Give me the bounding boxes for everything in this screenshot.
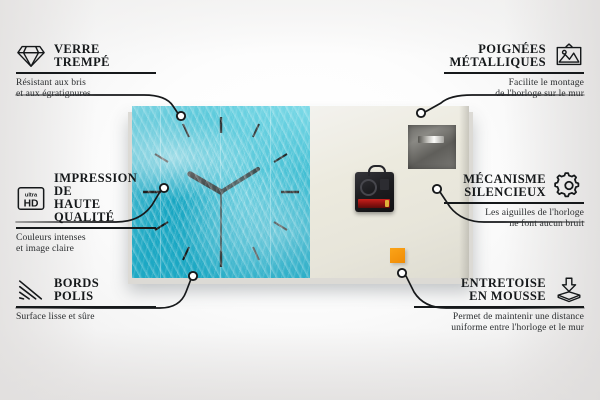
svg-text:HD: HD	[24, 198, 39, 209]
callout-title-line2: HAUTE QUALITÉ	[54, 198, 156, 224]
callout-mecanisme-silencieux: MÉCANISME SILENCIEUX Les aiguilles de l'…	[444, 172, 584, 230]
foam-spacer-icon	[554, 276, 584, 303]
metal-handle-plate	[408, 125, 456, 169]
callout-sub-line1: Les aiguilles de l'horloge	[444, 207, 584, 219]
callout-rule	[16, 72, 156, 74]
callout-title-line1: MÉCANISME	[463, 173, 546, 186]
callout-title-line1: BORDS	[54, 277, 99, 290]
callout-entretoise-en-mousse: ENTRETOISE EN MOUSSE Permet de maintenir…	[414, 276, 584, 334]
battery-cap	[385, 200, 389, 207]
callout-sub-line2: et aux égratignures	[16, 88, 156, 100]
product-photo	[132, 106, 469, 278]
callout-sub-line2: ne font aucun bruit	[444, 218, 584, 230]
handle-slot	[418, 136, 444, 143]
clock-dial	[132, 106, 310, 278]
glass-seam	[160, 106, 161, 278]
callout-title-line1: POIGNÉES	[449, 43, 546, 56]
callout-poignees-metalliques: POIGNÉES MÉTALLIQUES Facilite le montage…	[444, 42, 584, 100]
ultra-hd-icon: ultra HD	[16, 185, 46, 212]
hanging-loop	[368, 165, 386, 176]
callout-title-line2: SILENCIEUX	[463, 186, 546, 199]
callout-sub-line1: Résistant aux bris	[16, 77, 156, 89]
glass-seam	[220, 106, 221, 278]
clock-front-view	[132, 106, 310, 278]
infographic-canvas: VERRE TREMPÉ Résistant aux bris et aux é…	[0, 0, 600, 400]
callout-sub-line1: Permet de maintenir une distance	[414, 311, 584, 323]
feather-texture	[132, 106, 310, 278]
callout-rule	[444, 202, 584, 204]
callout-title-line2: TREMPÉ	[54, 56, 110, 69]
callout-sub-line1: Surface lisse et sûre	[16, 311, 156, 323]
callout-sub-line1: Couleurs intenses	[16, 232, 156, 244]
callout-bords-polis: BORDS POLIS Surface lisse et sûre	[16, 276, 156, 322]
callout-title-line2: POLIS	[54, 290, 99, 303]
callout-sub-line2: et image claire	[16, 243, 156, 255]
callout-title-line1: VERRE	[54, 43, 110, 56]
callout-verre-trempe: VERRE TREMPÉ Résistant aux bris et aux é…	[16, 42, 156, 100]
callout-rule	[16, 227, 156, 229]
callout-rule	[16, 306, 156, 308]
callout-title-line1: ENTRETOISE	[461, 277, 546, 290]
callout-sub-line2: uniforme entre l'horloge et le mur	[414, 322, 584, 334]
mechanism-dial	[360, 179, 377, 196]
callout-rule	[444, 72, 584, 74]
callout-sub-line2: de l'horloge sur le mur	[444, 88, 584, 100]
picture-frame-hanger-icon	[554, 42, 584, 69]
callout-title-line1: IMPRESSION DE	[54, 172, 156, 198]
glass-seam	[270, 106, 271, 278]
clock-mechanism	[355, 172, 394, 212]
diamond-icon	[16, 42, 46, 69]
foam-spacer-pad	[390, 248, 405, 263]
callout-title-line2: MÉTALLIQUES	[449, 56, 546, 69]
battery	[358, 199, 390, 208]
polished-edges-icon	[16, 276, 46, 303]
callout-title-line2: EN MOUSSE	[461, 290, 546, 303]
callout-sub-line1: Facilite le montage	[444, 77, 584, 89]
callout-rule	[414, 306, 584, 308]
callout-impression-haute-qualite: ultra HD IMPRESSION DE HAUTE QUALITÉ Cou…	[16, 172, 156, 255]
mechanism-chip	[380, 179, 389, 190]
gear-icon	[554, 172, 584, 199]
